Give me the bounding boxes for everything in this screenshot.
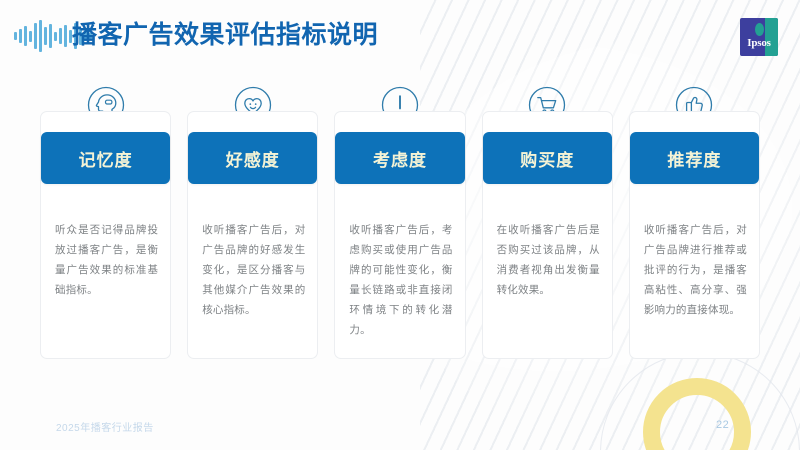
- metric-card-description: 听众是否记得品牌投放过播客广告，是衡量广告效果的标准基础指标。: [55, 220, 158, 300]
- waveform-bar: [24, 26, 27, 46]
- waveform-bar: [59, 28, 62, 44]
- metric-card-body: 购买度 在收听播客广告后是否购买过该品牌，从消费者视角出发衡量转化效果。: [482, 111, 613, 359]
- metric-card-header[interactable]: 推荐度: [630, 132, 759, 184]
- waveform-bar: [39, 20, 42, 52]
- waveform-bar: [34, 23, 37, 49]
- metric-card-title: 好感度: [226, 146, 280, 171]
- metric-card-description: 收听播客广告后，考虑购买或使用广告品牌的可能性变化，衡量长链路或非直接闭环情境下…: [349, 220, 452, 340]
- waveform-bar: [14, 32, 17, 40]
- metric-card-header[interactable]: 考虑度: [335, 132, 464, 184]
- metric-card-purchase[interactable]: 购买度 在收听播客广告后是否购买过该品牌，从消费者视角出发衡量转化效果。: [478, 84, 617, 359]
- metric-card-title: 记忆度: [79, 146, 133, 171]
- slide-header: 播客广告效果评估指标说明 Ipsos: [0, 0, 800, 68]
- footer-report-name: 2025年播客行业报告: [56, 419, 154, 434]
- metric-card-header[interactable]: 好感度: [188, 132, 317, 184]
- metric-card-description: 在收听播客广告后是否购买过该品牌，从消费者视角出发衡量转化效果。: [497, 220, 600, 300]
- metric-card-memory[interactable]: 记忆度 听众是否记得品牌投放过播客广告，是衡量广告效果的标准基础指标。: [36, 84, 175, 359]
- metric-card-title: 购买度: [520, 146, 574, 171]
- metric-card-consideration[interactable]: 考虑度 收听播客广告后，考虑购买或使用广告品牌的可能性变化，衡量长链路或非直接闭…: [330, 84, 469, 359]
- metric-card-description: 收听播客广告后，对广告品牌进行推荐或批评的行为，是播客高粘性、高分享、强影响力的…: [644, 220, 747, 320]
- waveform-bar: [64, 25, 67, 47]
- waveform-bar: [19, 29, 22, 43]
- metric-card-body: 推荐度 收听播客广告后，对广告品牌进行推荐或批评的行为，是播客高粘性、高分享、强…: [629, 111, 760, 359]
- waveform-bar: [54, 32, 57, 41]
- decorative-yellow-ring: [643, 378, 751, 450]
- metric-card-body: 考虑度 收听播客广告后，考虑购买或使用广告品牌的可能性变化，衡量长链路或非直接闭…: [334, 111, 465, 359]
- page-number: 22: [716, 419, 729, 431]
- waveform-bar: [49, 24, 52, 48]
- metric-card-favorability[interactable]: 好感度 收听播客广告后，对广告品牌的好感发生变化，是区分播客与其他媒介广告效果的…: [183, 84, 322, 359]
- metric-card-header[interactable]: 购买度: [483, 132, 612, 184]
- metric-card-title: 推荐度: [667, 146, 721, 171]
- waveform-bar: [44, 27, 47, 45]
- metric-card-description: 收听播客广告后，对广告品牌的好感发生变化，是区分播客与其他媒介广告效果的核心指标…: [202, 220, 305, 320]
- metric-card-row: 记忆度 听众是否记得品牌投放过播客广告，是衡量广告效果的标准基础指标。 好感度: [36, 84, 764, 359]
- metric-card-body: 好感度 收听播客广告后，对广告品牌的好感发生变化，是区分播客与其他媒介广告效果的…: [187, 111, 318, 359]
- slide-canvas: 播客广告效果评估指标说明 Ipsos 记忆度 听众是否记得品牌投: [0, 0, 800, 450]
- ipsos-logo-text: Ipsos: [740, 37, 778, 49]
- metric-card-recommendation[interactable]: 推荐度 收听播客广告后，对广告品牌进行推荐或批评的行为，是播客高粘性、高分享、强…: [625, 84, 764, 359]
- background-arc: [600, 352, 800, 450]
- ipsos-logo: Ipsos: [740, 18, 778, 56]
- waveform-bar: [29, 31, 32, 42]
- ipsos-logo-droplet: [755, 23, 764, 36]
- metric-card-body: 记忆度 听众是否记得品牌投放过播客广告，是衡量广告效果的标准基础指标。: [40, 111, 171, 359]
- metric-card-header[interactable]: 记忆度: [41, 132, 170, 184]
- page-title: 播客广告效果评估指标说明: [72, 18, 378, 52]
- metric-card-title: 考虑度: [373, 146, 427, 171]
